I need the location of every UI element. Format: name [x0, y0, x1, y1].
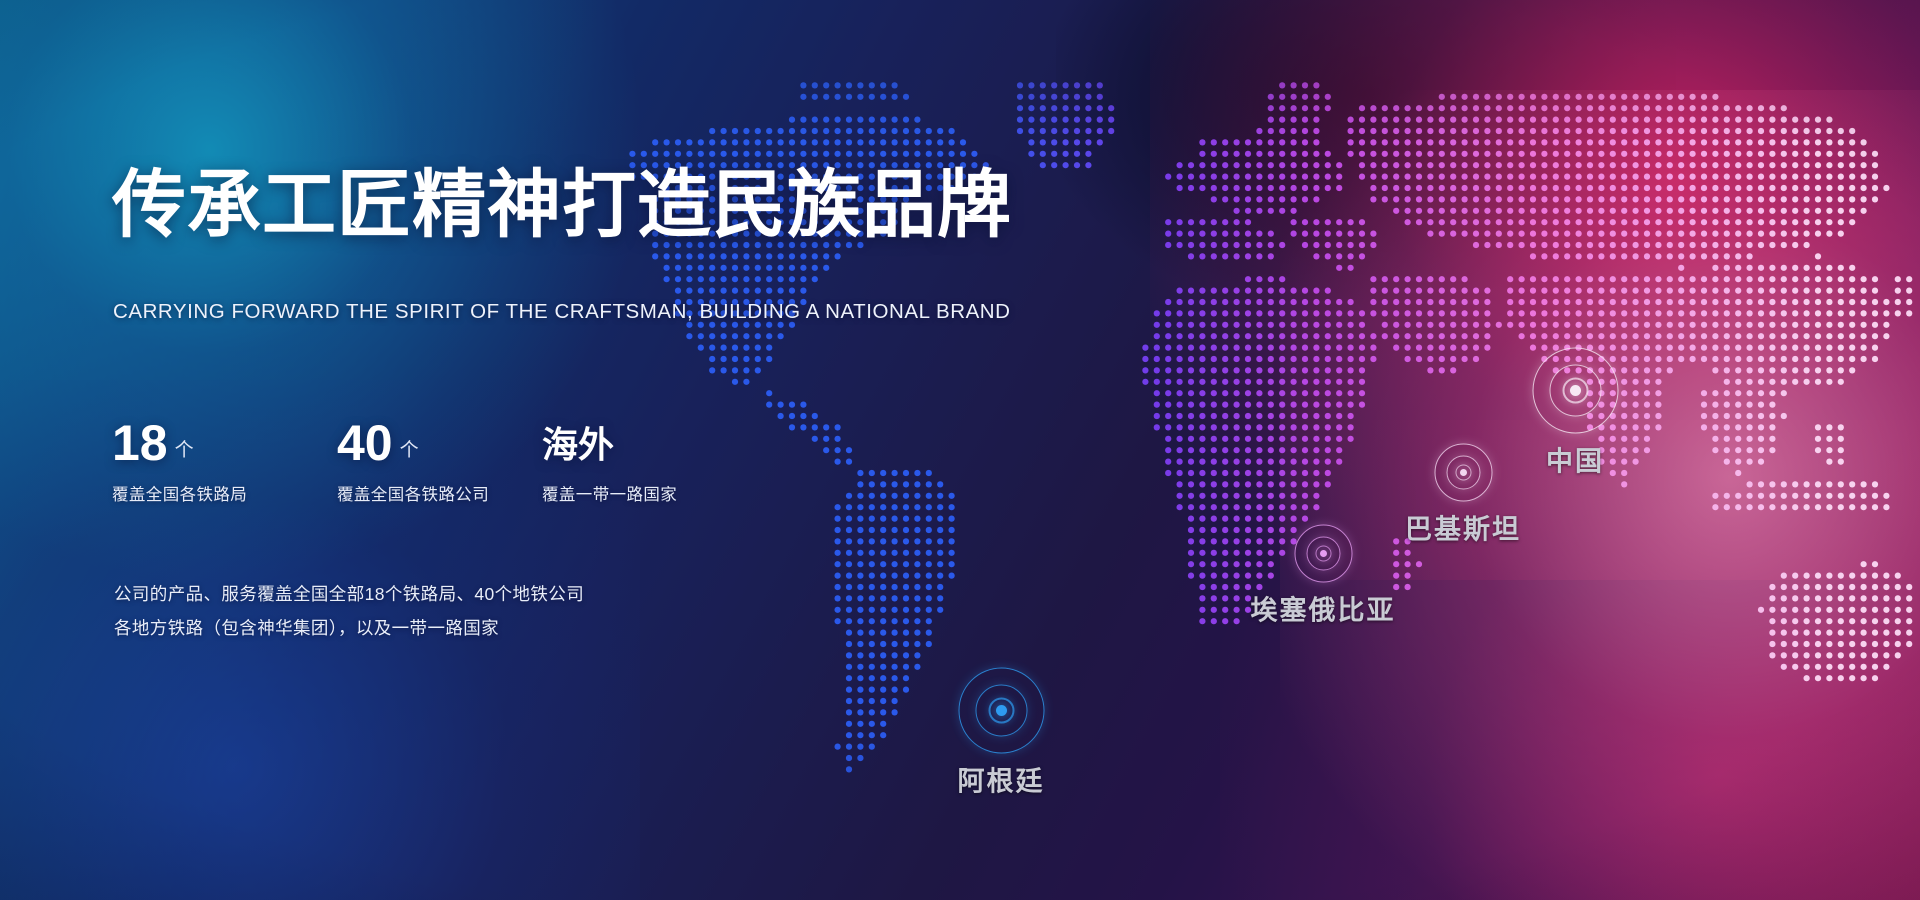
stat-value-row: 40 个: [337, 412, 542, 468]
map-marker-3[interactable]: 埃塞俄比亚: [1323, 553, 1324, 554]
stat-unit: 个: [175, 435, 194, 462]
marker-label: 埃塞俄比亚: [1251, 589, 1396, 628]
stat-caption: 覆盖全国各铁路公司: [337, 481, 542, 505]
stats-row: 18 个 覆盖全国各铁路局 40 个 覆盖全国各铁路公司 海外 覆盖一带一路国家: [112, 412, 677, 505]
marker-center-dot-icon: [996, 705, 1007, 716]
page-title: 传承工匠精神打造民族品牌: [112, 168, 1012, 242]
marker-center-dot-icon: [1460, 469, 1467, 476]
description-line: 公司的产品、服务覆盖全国全部18个铁路局、40个地铁公司: [114, 578, 584, 612]
map-marker-2[interactable]: 巴基斯坦: [1463, 472, 1464, 473]
description-line: 各地方铁路（包含神华集团），以及一带一路国家: [114, 612, 584, 646]
stat-caption: 覆盖一带一路国家: [542, 481, 677, 505]
marker-label: 巴基斯坦: [1405, 508, 1521, 547]
map-marker-4[interactable]: 阿根廷: [1001, 710, 1002, 711]
stat-value-row: 18 个: [112, 412, 337, 468]
stat-value: 40: [337, 419, 393, 468]
description-paragraph: 公司的产品、服务覆盖全国全部18个铁路局、40个地铁公司 各地方铁路（包含神华集…: [114, 578, 584, 645]
marker-center-dot-icon: [1570, 385, 1581, 396]
stat-value-row: 海外: [542, 412, 677, 468]
stat-value: 海外: [542, 422, 614, 468]
map-marker-1[interactable]: 中国: [1575, 390, 1576, 391]
hero-banner: 中国巴基斯坦埃塞俄比亚阿根廷 传承工匠精神打造民族品牌 CARRYING FOR…: [0, 0, 1920, 900]
stat-item: 18 个 覆盖全国各铁路局: [112, 412, 337, 505]
stat-value: 18: [112, 419, 168, 468]
marker-label: 阿根廷: [958, 760, 1045, 799]
page-subtitle: CARRYING FORWARD THE SPIRIT OF THE CRAFT…: [113, 300, 1011, 324]
stat-unit: 个: [400, 435, 419, 462]
marker-center-dot-icon: [1320, 550, 1327, 557]
marker-label: 中国: [1546, 440, 1604, 479]
stat-item: 40 个 覆盖全国各铁路公司: [337, 412, 542, 505]
stat-item: 海外 覆盖一带一路国家: [542, 412, 677, 505]
stat-caption: 覆盖全国各铁路局: [112, 481, 337, 505]
